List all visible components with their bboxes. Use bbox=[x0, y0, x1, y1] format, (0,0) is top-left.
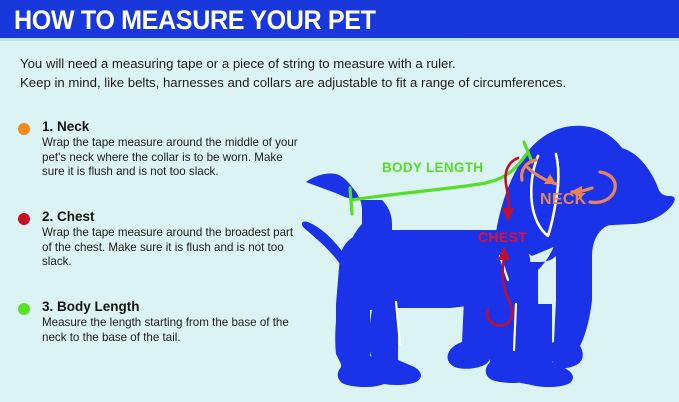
intro-text: You will need a measuring tape or a piec… bbox=[20, 55, 665, 92]
page-title: HOW TO MEASURE YOUR PET bbox=[14, 4, 376, 36]
measure-desc-body-length: Measure the length starting from the bas… bbox=[42, 316, 304, 345]
body-length-cap-left bbox=[350, 188, 352, 214]
list-item-chest: 2. Chest Wrap the tape measure around th… bbox=[18, 208, 298, 286]
dog-hind-leg-near bbox=[369, 300, 421, 385]
measurement-list: 1. Neck Wrap the tape measure around the… bbox=[18, 118, 298, 388]
measure-title-neck: 1. Neck bbox=[42, 118, 298, 135]
list-item-body-length: 3. Body Length Measure the length starti… bbox=[18, 298, 298, 376]
bullet-dot-body-length-icon bbox=[18, 303, 30, 315]
dog-measurement-diagram: BODY LENGTH NECK CHEST bbox=[300, 104, 679, 402]
bullet-dot-neck-icon bbox=[18, 123, 30, 135]
measure-title-chest: 2. Chest bbox=[42, 208, 298, 225]
bullet-dot-chest-icon bbox=[18, 213, 30, 225]
header-underline bbox=[0, 38, 679, 41]
intro-line-2: Keep in mind, like belts, harnesses and … bbox=[20, 74, 665, 93]
measure-title-body-length: 3. Body Length bbox=[42, 298, 298, 315]
neck-label: NECK bbox=[540, 191, 587, 208]
infographic-page: HOW TO MEASURE YOUR PET You will need a … bbox=[0, 0, 679, 402]
measure-desc-chest: Wrap the tape measure around the broades… bbox=[42, 226, 304, 270]
chest-label: CHEST bbox=[478, 229, 527, 245]
measure-desc-neck: Wrap the tape measure around the middle … bbox=[42, 136, 304, 180]
body-length-label: BODY LENGTH bbox=[382, 160, 483, 175]
intro-line-1: You will need a measuring tape or a piec… bbox=[20, 55, 665, 74]
list-item-neck: 1. Neck Wrap the tape measure around the… bbox=[18, 118, 298, 196]
dog-tail bbox=[302, 221, 344, 264]
